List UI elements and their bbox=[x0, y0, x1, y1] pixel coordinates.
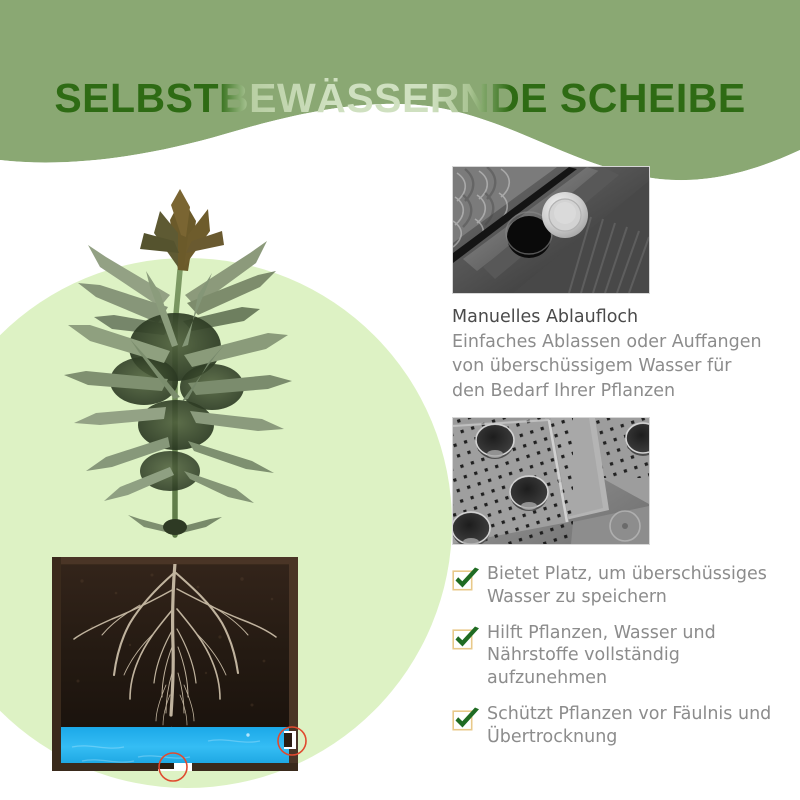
manual-drain-hole-photo bbox=[452, 166, 650, 294]
list-item: Hilft Pflanzen, Wasser und Nährstoffe vo… bbox=[452, 622, 784, 690]
list-item-label: Bietet Platz, um überschüssiges Wasser z… bbox=[487, 563, 784, 609]
plant-cross-section-illustration bbox=[20, 175, 410, 790]
check-box-icon bbox=[452, 566, 482, 592]
feature-drain-hole-heading: Manuelles Ablaufloch bbox=[452, 306, 784, 329]
benefits-list: Bietet Platz, um überschüssiges Wasser z… bbox=[452, 563, 784, 748]
check-box-icon bbox=[452, 706, 482, 732]
features-column: Manuelles Ablaufloch Einfaches Ablassen … bbox=[452, 166, 784, 761]
check-box-icon bbox=[452, 625, 482, 651]
perforated-tray-photo bbox=[452, 417, 650, 545]
list-item-label: Schützt Pflanzen vor Fäulnis und Übertro… bbox=[487, 703, 784, 749]
list-item: Bietet Platz, um überschüssiges Wasser z… bbox=[452, 563, 784, 609]
list-item-label: Hilft Pflanzen, Wasser und Nährstoffe vo… bbox=[487, 622, 784, 690]
product-infographic-page: SELBSTBEWÄSSERNDE SCHEIBE bbox=[0, 0, 800, 800]
page-title: SELBSTBEWÄSSERNDE SCHEIBE bbox=[0, 78, 800, 119]
list-item: Schützt Pflanzen vor Fäulnis und Übertro… bbox=[452, 703, 784, 749]
feature-drain-hole-body: Einfaches Ablassen oder Auffangen von üb… bbox=[452, 330, 770, 403]
plant-foliage bbox=[64, 189, 292, 535]
pot-cross-section bbox=[52, 557, 298, 771]
